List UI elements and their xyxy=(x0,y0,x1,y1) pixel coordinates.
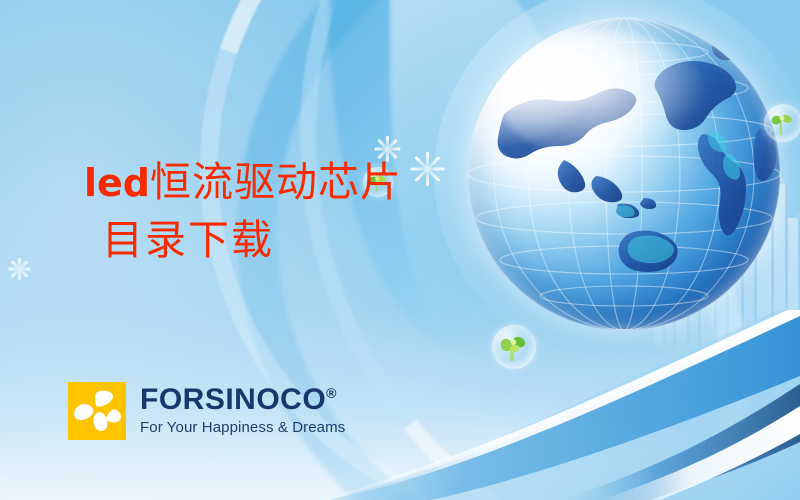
brand-logo: FORSINOCO® For Your Happiness & Dreams xyxy=(68,382,345,440)
bubble-sprout-icon xyxy=(764,104,800,142)
logo-tagline: For Your Happiness & Dreams xyxy=(140,419,345,436)
globe-sphere xyxy=(468,18,780,330)
pinwheel-petals-icon xyxy=(68,382,126,440)
headline-latin: led xyxy=(84,161,150,205)
logo-text-block: FORSINOCO® For Your Happiness & Dreams xyxy=(140,385,345,436)
globe-icon xyxy=(468,18,780,330)
promo-banner: led恒流驱动芯片 目录下载 FORSINOCO® For Your Happi… xyxy=(0,0,800,500)
headline: led恒流驱动芯片 目录下载 xyxy=(84,162,402,262)
green-sprout-icon xyxy=(771,111,795,135)
sparkle-flower-icon xyxy=(410,152,444,186)
headline-line-1: led恒流驱动芯片 xyxy=(84,162,402,204)
logo-wordmark: FORSINOCO xyxy=(140,383,326,416)
headline-line-2: 目录下载 xyxy=(102,220,402,262)
sparkle-flower-icon xyxy=(8,258,30,280)
four-petal-pinwheel-icon xyxy=(68,382,126,440)
globe-rim xyxy=(468,18,780,330)
registered-trademark-icon: ® xyxy=(326,385,337,401)
logo-name: FORSINOCO® xyxy=(140,385,345,415)
headline-cjk: 恒流驱动芯片 xyxy=(150,158,402,206)
